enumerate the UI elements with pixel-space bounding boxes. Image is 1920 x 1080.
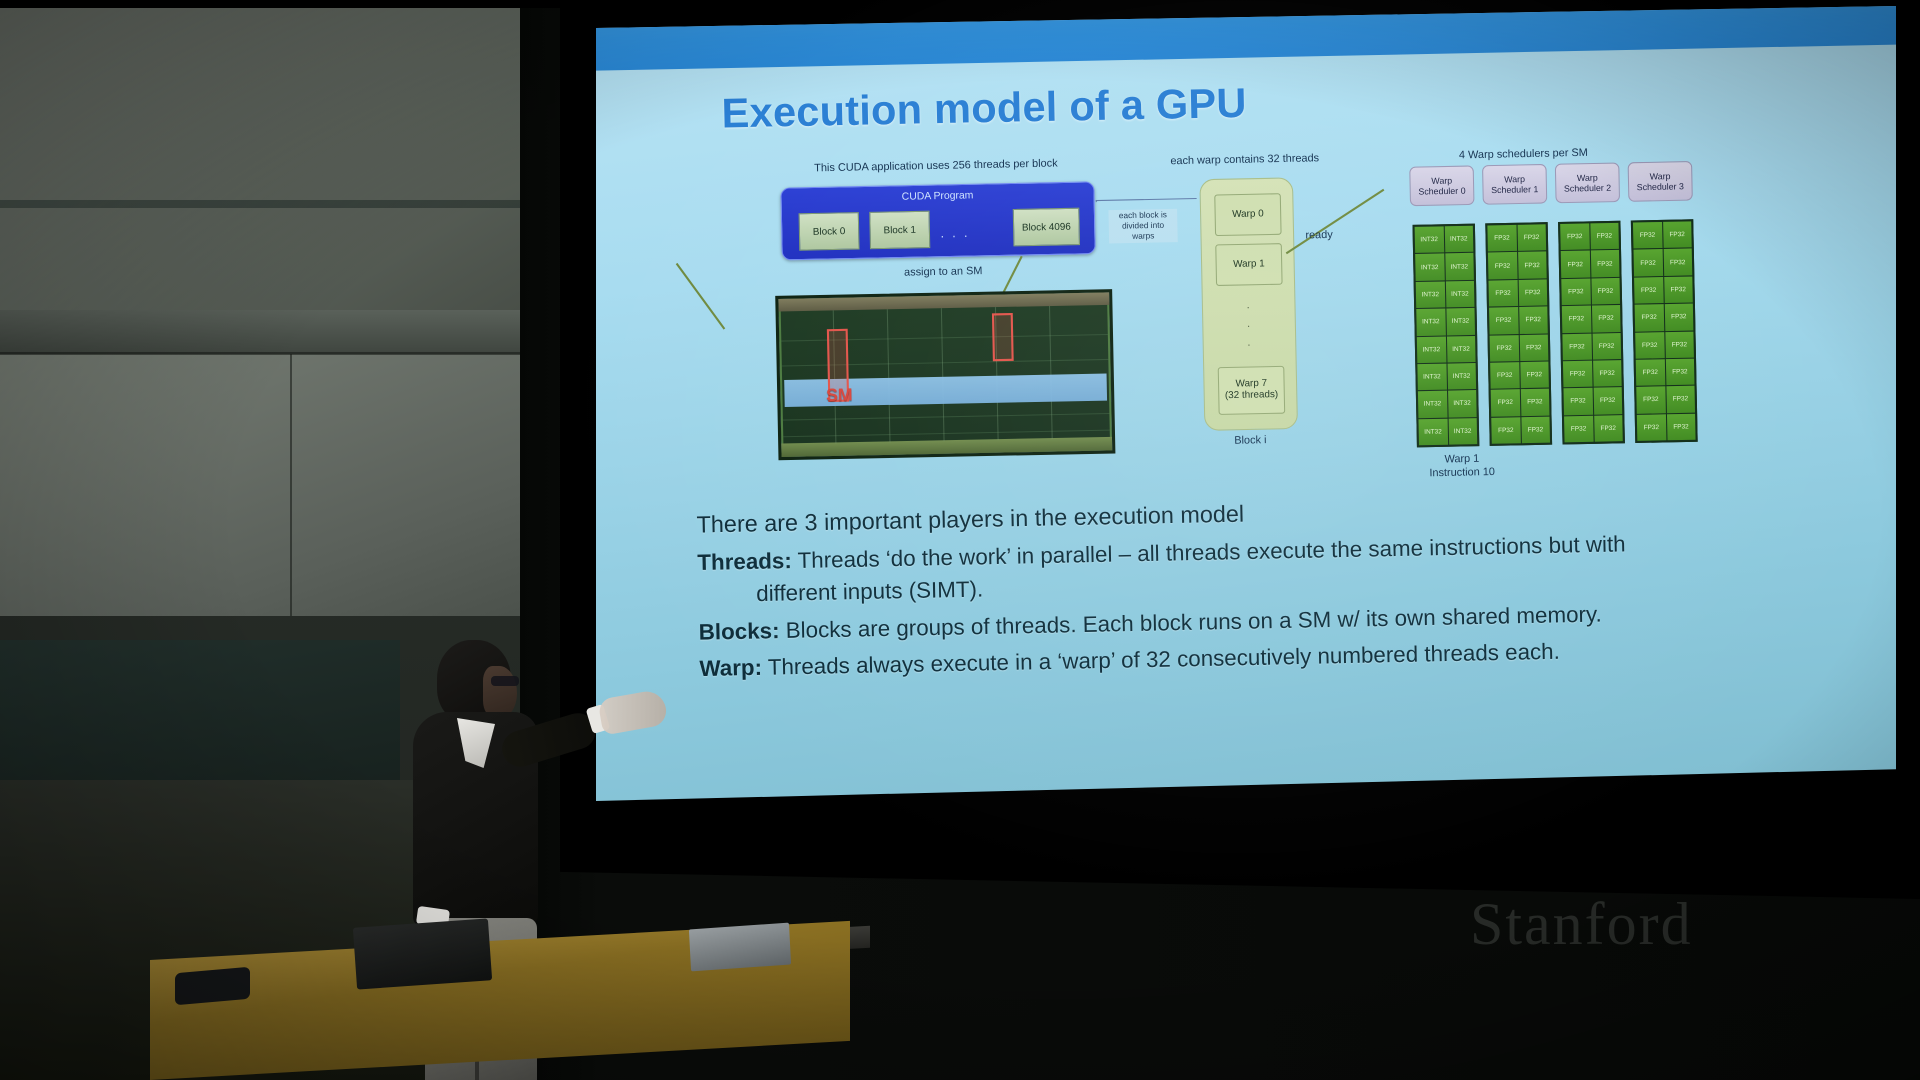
core-cell: INT32 bbox=[1448, 390, 1477, 417]
core-cell: FP32 bbox=[1593, 360, 1622, 387]
core-cell: FP32 bbox=[1518, 279, 1547, 306]
core-cell: INT32 bbox=[1445, 253, 1474, 280]
core-cell: FP32 bbox=[1635, 304, 1664, 331]
core-cell: FP32 bbox=[1636, 359, 1665, 386]
core-cell: FP32 bbox=[1564, 415, 1593, 442]
stanford-watermark: Stanford bbox=[1470, 890, 1693, 959]
core-cell: INT32 bbox=[1446, 308, 1475, 335]
gpu-die-image: SM bbox=[775, 289, 1115, 460]
core-cell: INT32 bbox=[1418, 391, 1447, 418]
warp-scheduler-3: Warp Scheduler 3 bbox=[1628, 161, 1693, 202]
warp-text: Threads always execute in a ‘warp’ of 32… bbox=[768, 639, 1560, 680]
core-cell: INT32 bbox=[1415, 254, 1444, 281]
core-cell: FP32 bbox=[1591, 278, 1620, 305]
presenter-face bbox=[483, 666, 517, 718]
caption-cuda-threads: This CUDA application uses 256 threads p… bbox=[754, 156, 1118, 176]
core-cell: FP32 bbox=[1489, 307, 1518, 334]
warp-label: Warp: bbox=[699, 655, 762, 681]
core-cell: INT32 bbox=[1446, 335, 1475, 362]
label-block-divided-into-warps: each block is divided into warps bbox=[1108, 209, 1177, 244]
core-cell: FP32 bbox=[1590, 250, 1619, 277]
projection-screen: Execution model of a GPU This CUDA appli… bbox=[596, 6, 1896, 801]
core-cell: FP32 bbox=[1633, 222, 1662, 249]
slide-title: Execution model of a GPU bbox=[721, 81, 1247, 138]
blocks-text: Blocks are groups of threads. Each block… bbox=[785, 601, 1601, 642]
cuda-program-label: CUDA Program bbox=[781, 188, 1093, 206]
arrow-block0-to-sm bbox=[676, 263, 725, 329]
warp-stack: Warp 0 Warp 1 . . . Warp 7 (32 threads) bbox=[1199, 177, 1298, 431]
core-column-fp32-2: FP32FP32FP32FP32FP32FP32FP32FP32FP32FP32… bbox=[1558, 221, 1625, 445]
die-top-strip bbox=[778, 292, 1109, 311]
core-cell: FP32 bbox=[1520, 389, 1549, 416]
core-cell: FP32 bbox=[1663, 249, 1692, 276]
core-cell: FP32 bbox=[1519, 334, 1548, 361]
warp-scheduler-2: Warp Scheduler 2 bbox=[1555, 162, 1620, 203]
presenter-glasses bbox=[491, 676, 519, 686]
label-warp-instruction: Warp 1 Instruction 10 bbox=[1405, 452, 1520, 482]
core-cell: FP32 bbox=[1488, 252, 1517, 279]
wall-upper-panel bbox=[0, 0, 560, 310]
core-cell: FP32 bbox=[1562, 333, 1591, 360]
core-cell: FP32 bbox=[1634, 277, 1663, 304]
wall-seam bbox=[290, 354, 292, 616]
core-cell: FP32 bbox=[1594, 415, 1623, 442]
core-cell: FP32 bbox=[1636, 387, 1665, 414]
core-cell: INT32 bbox=[1415, 226, 1444, 253]
caption-warp-schedulers: 4 Warp schedulers per SM bbox=[1388, 145, 1659, 163]
threads-text: Threads ‘do the work’ in parallel – all … bbox=[797, 531, 1625, 573]
secondary-monitor bbox=[689, 923, 791, 972]
laptop bbox=[353, 918, 492, 989]
core-cell: FP32 bbox=[1517, 224, 1546, 251]
core-cell: FP32 bbox=[1490, 335, 1519, 362]
core-cell: FP32 bbox=[1491, 389, 1520, 416]
core-cell: FP32 bbox=[1563, 361, 1592, 388]
core-cell: FP32 bbox=[1665, 331, 1694, 358]
warp-scheduler-0: Warp Scheduler 0 bbox=[1409, 165, 1474, 206]
core-cell: FP32 bbox=[1560, 223, 1589, 250]
warp-dots: . bbox=[1247, 319, 1250, 331]
core-cell: FP32 bbox=[1488, 280, 1517, 307]
core-cell: FP32 bbox=[1590, 223, 1619, 250]
chalkboard-edge bbox=[0, 200, 560, 208]
core-cell: FP32 bbox=[1663, 221, 1692, 248]
lecture-hall-scene: Execution model of a GPU This CUDA appli… bbox=[0, 0, 1920, 1080]
core-cell: FP32 bbox=[1592, 333, 1621, 360]
block-4096: Block 4096 bbox=[1013, 208, 1080, 247]
warp-dots: . bbox=[1247, 300, 1250, 312]
cuda-program-box: CUDA Program Block 0 Block 1 . . . Block… bbox=[780, 181, 1095, 260]
block-0: Block 0 bbox=[799, 212, 860, 251]
core-cell: INT32 bbox=[1416, 309, 1445, 336]
wall-seam bbox=[0, 352, 560, 355]
core-cell: FP32 bbox=[1635, 332, 1664, 359]
core-cell: FP32 bbox=[1637, 414, 1666, 441]
warp-scheduler-1: Warp Scheduler 1 bbox=[1482, 164, 1547, 205]
body-warp: Warp: Threads always execute in a ‘warp’… bbox=[699, 635, 1854, 681]
core-cell: FP32 bbox=[1519, 307, 1548, 334]
core-column-int32: INT32INT32INT32INT32INT32INT32INT32INT32… bbox=[1412, 224, 1479, 448]
slide-body-text: There are 3 important players in the exe… bbox=[696, 491, 1854, 696]
core-column-fp32-3: FP32FP32FP32FP32FP32FP32FP32FP32FP32FP32… bbox=[1631, 219, 1698, 443]
core-cell: INT32 bbox=[1448, 418, 1477, 445]
core-cell: FP32 bbox=[1561, 251, 1590, 278]
core-cell: FP32 bbox=[1664, 304, 1693, 331]
threads-label: Threads: bbox=[697, 548, 792, 575]
core-cell: INT32 bbox=[1417, 336, 1446, 363]
core-cell: INT32 bbox=[1445, 281, 1474, 308]
core-cell: FP32 bbox=[1521, 416, 1550, 443]
core-cell: FP32 bbox=[1666, 413, 1695, 440]
sm-outline-right bbox=[992, 313, 1014, 361]
core-cell: FP32 bbox=[1664, 276, 1693, 303]
warp-0: Warp 0 bbox=[1214, 193, 1281, 236]
core-cell: INT32 bbox=[1417, 363, 1446, 390]
core-cell: FP32 bbox=[1490, 362, 1519, 389]
core-cell: FP32 bbox=[1666, 386, 1695, 413]
core-cell: FP32 bbox=[1563, 388, 1592, 415]
core-cell: INT32 bbox=[1444, 226, 1473, 253]
warp-1: Warp 1 bbox=[1215, 243, 1282, 286]
core-cell: INT32 bbox=[1447, 363, 1476, 390]
core-cell: FP32 bbox=[1665, 358, 1694, 385]
core-cell: FP32 bbox=[1518, 252, 1547, 279]
presentation-slide: Execution model of a GPU This CUDA appli… bbox=[596, 6, 1896, 801]
core-cell: FP32 bbox=[1487, 225, 1516, 252]
core-cell: FP32 bbox=[1491, 417, 1520, 444]
caption-warp-threads: each warp contains 32 threads bbox=[1151, 151, 1338, 167]
core-cell: FP32 bbox=[1591, 305, 1620, 332]
core-cell: FP32 bbox=[1634, 249, 1663, 276]
gpu-execution-diagram: This CUDA application uses 256 threads p… bbox=[596, 136, 1896, 485]
block-1: Block 1 bbox=[869, 211, 930, 250]
warp-dots: . bbox=[1247, 337, 1250, 349]
body-lead: There are 3 important players in the exe… bbox=[696, 491, 1851, 538]
wall-rail bbox=[0, 310, 560, 354]
warp-7: Warp 7 (32 threads) bbox=[1218, 366, 1286, 415]
body-blocks: Blocks: Blocks are groups of threads. Ea… bbox=[699, 598, 1854, 644]
body-threads: Threads: Threads ‘do the work’ in parall… bbox=[697, 529, 1852, 607]
die-bottom-strip bbox=[781, 437, 1112, 457]
sm-label: SM bbox=[826, 385, 853, 406]
core-cell: FP32 bbox=[1561, 278, 1590, 305]
core-cell: INT32 bbox=[1416, 281, 1445, 308]
label-ready: ready bbox=[1296, 228, 1342, 241]
microphone-base bbox=[175, 967, 250, 1006]
core-cell: FP32 bbox=[1593, 387, 1622, 414]
core-cell: FP32 bbox=[1562, 306, 1591, 333]
core-column-fp32-1: FP32FP32FP32FP32FP32FP32FP32FP32FP32FP32… bbox=[1485, 222, 1552, 446]
core-cell: INT32 bbox=[1418, 418, 1447, 445]
wall-lower-panel bbox=[0, 354, 560, 616]
core-cell: FP32 bbox=[1520, 361, 1549, 388]
blocks-ellipsis: . . . bbox=[940, 224, 969, 240]
arrow-ready bbox=[1286, 189, 1384, 254]
leader-block-to-warps bbox=[1096, 198, 1197, 202]
label-block-i: Block i bbox=[1204, 433, 1296, 447]
blocks-label: Blocks: bbox=[698, 618, 779, 645]
